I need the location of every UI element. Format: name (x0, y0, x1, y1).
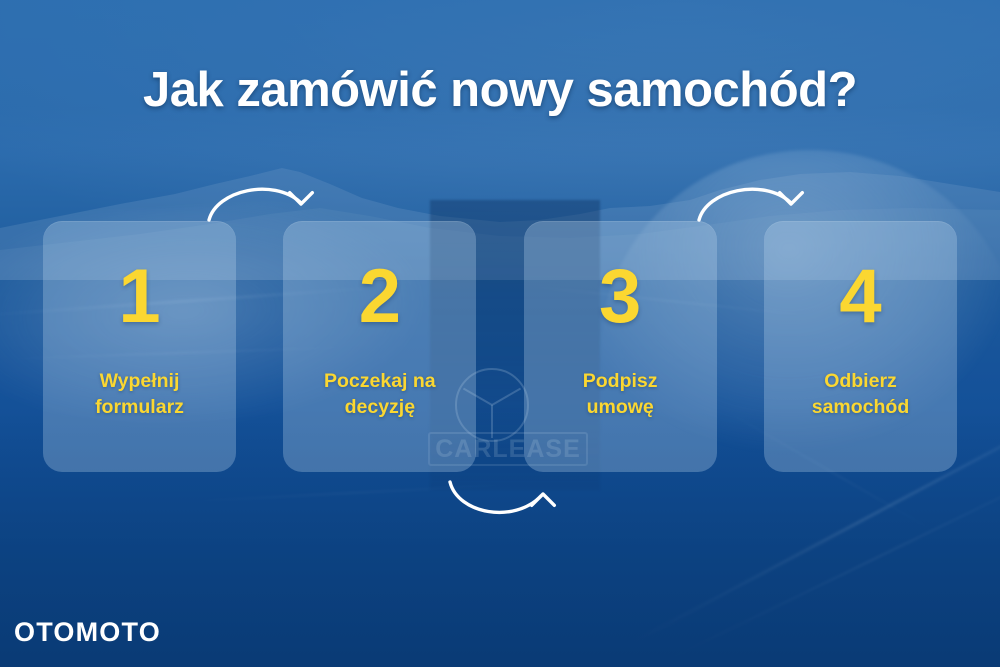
step-label-line1: Odbierz (824, 370, 897, 392)
step-label: Poczekaj na decyzję (289, 369, 470, 420)
step-label: Wypełnij formularz (49, 369, 230, 420)
step-label-line1: Poczekaj na (324, 370, 436, 392)
step-label-line2: decyzję (345, 396, 415, 418)
otomoto-logo: OTOMOTO (14, 617, 161, 648)
promo-banner: CARLEASE Jak zamówić nowy samochód? 1 Wy… (0, 0, 1000, 667)
step-card-2: 2 Poczekaj na decyzję (283, 221, 476, 472)
step-label: Odbierz samochód (770, 369, 951, 420)
step-number: 4 (839, 259, 881, 335)
step-card-3: 3 Podpisz umowę (524, 221, 717, 472)
page-title: Jak zamówić nowy samochód? (0, 62, 1000, 118)
step-label: Podpisz umowę (530, 369, 711, 420)
step-label-line2: samochód (812, 396, 910, 418)
step-label-line2: umowę (587, 396, 654, 418)
step-number: 3 (599, 259, 641, 335)
step-card-4: 4 Odbierz samochód (764, 221, 957, 472)
step-number: 1 (118, 259, 160, 335)
step-card-1: 1 Wypełnij formularz (43, 221, 236, 472)
step-label-line1: Podpisz (583, 370, 658, 392)
steps-row: 1 Wypełnij formularz 2 Poczekaj na decyz… (43, 221, 957, 472)
step-number: 2 (359, 259, 401, 335)
step-label-line2: formularz (95, 396, 184, 418)
step-label-line1: Wypełnij (100, 370, 180, 392)
